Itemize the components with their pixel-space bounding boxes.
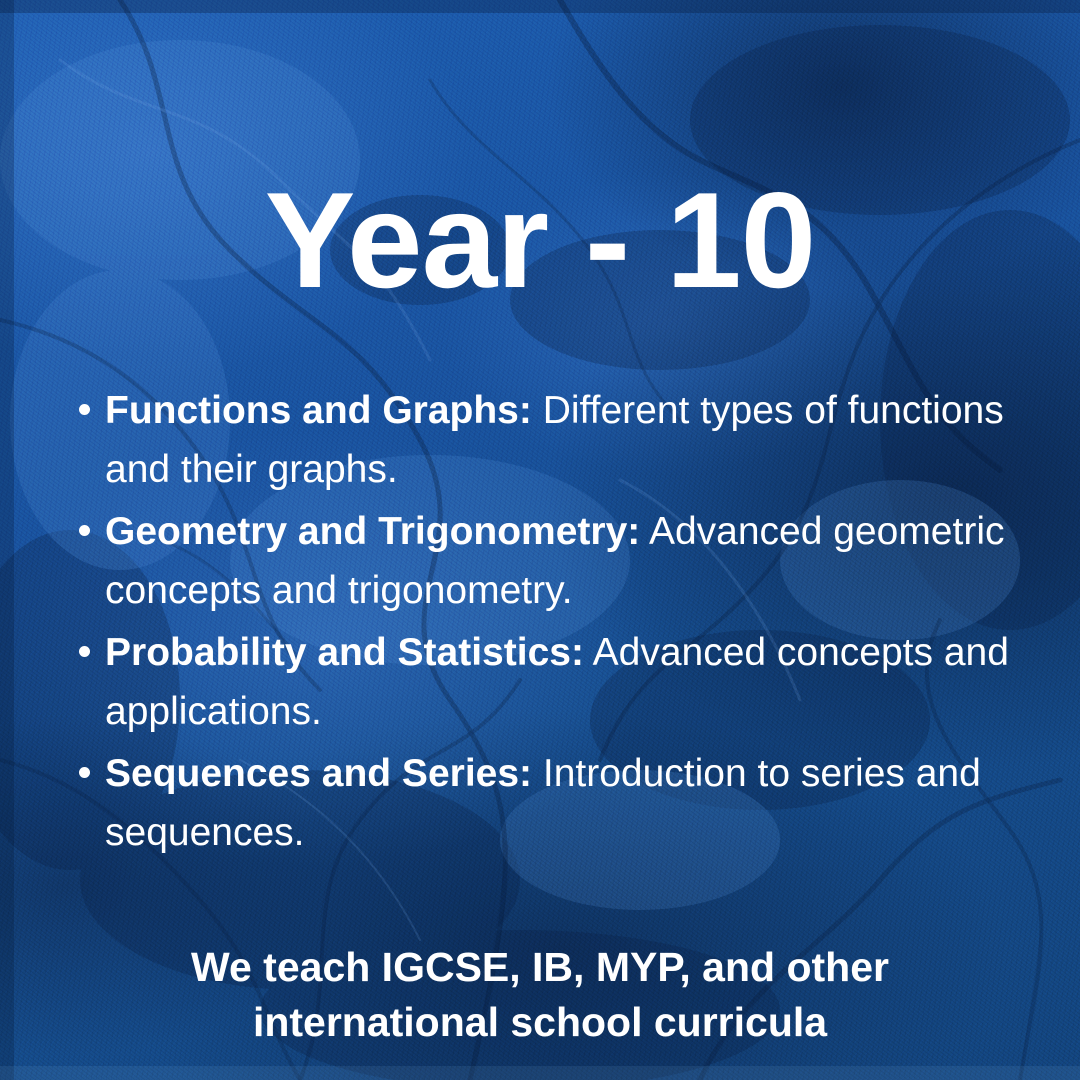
list-item-lead: Functions and Graphs: xyxy=(105,389,532,432)
bullet-dot-icon xyxy=(72,745,105,778)
list-item: Functions and Graphs: Different types of… xyxy=(72,382,1058,499)
list-item-lead: Geometry and Trigonometry: xyxy=(105,510,640,553)
list-item-text: Sequences and Series: Introduction to se… xyxy=(105,745,1058,862)
footer-tagline: We teach IGCSE, IB, MYP, and other inter… xyxy=(40,940,1040,1050)
footer-tagline-line-1: We teach IGCSE, IB, MYP, and other xyxy=(40,940,1040,995)
list-item: Geometry and Trigonometry: Advanced geom… xyxy=(72,503,1058,620)
bullet-dot-icon xyxy=(72,624,105,657)
bullet-dot-icon xyxy=(72,503,105,536)
page-title: Year - 10 xyxy=(0,169,1080,312)
curriculum-topic-list: Functions and Graphs: Different types of… xyxy=(72,382,1058,866)
list-item: Probability and Statistics: Advanced con… xyxy=(72,624,1058,741)
list-item-text: Functions and Graphs: Different types of… xyxy=(105,382,1058,499)
bullet-dot-icon xyxy=(72,382,105,415)
list-item-text: Probability and Statistics: Advanced con… xyxy=(105,624,1058,741)
list-item-lead: Probability and Statistics: xyxy=(105,631,584,674)
list-item: Sequences and Series: Introduction to se… xyxy=(72,745,1058,862)
list-item-text: Geometry and Trigonometry: Advanced geom… xyxy=(105,503,1058,620)
list-item-lead: Sequences and Series: xyxy=(105,752,532,795)
footer-tagline-line-2: international school curricula xyxy=(40,995,1040,1050)
curriculum-card: Year - 10 Functions and Graphs: Differen… xyxy=(0,0,1080,1080)
